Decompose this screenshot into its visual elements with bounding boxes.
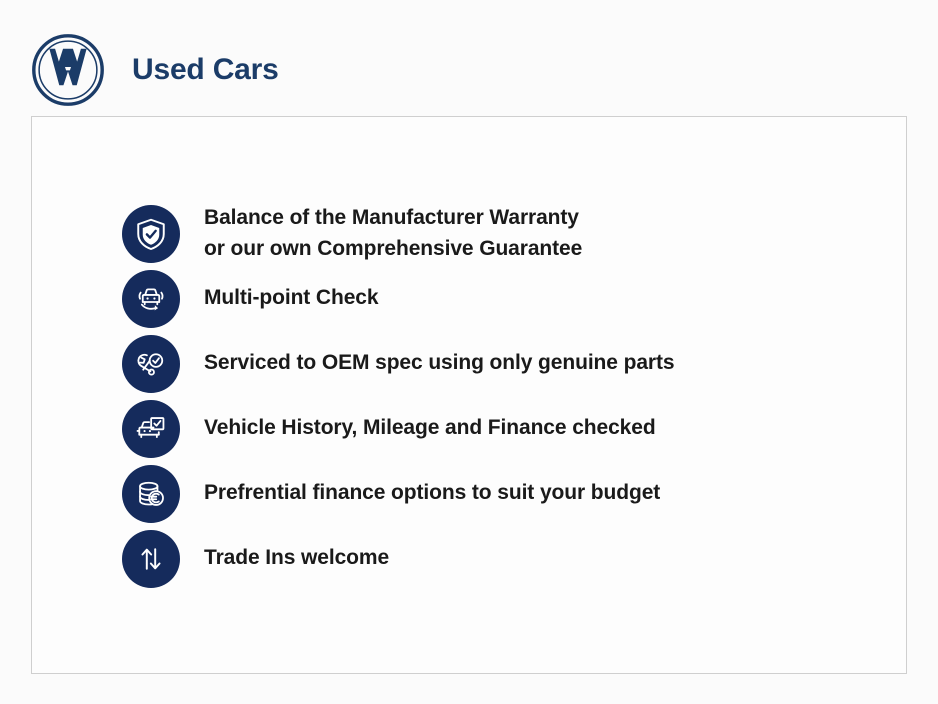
list-item-label: Balance of the Manufacturer Warranty or … bbox=[204, 203, 582, 264]
list-item: Serviced to OEM spec using only genuine … bbox=[122, 331, 882, 396]
coins-euro-icon bbox=[122, 465, 180, 523]
wrench-check-icon bbox=[122, 335, 180, 393]
used-cars-page: Used Cars Balance of the Manufacturer Wa… bbox=[0, 0, 938, 704]
list-item: Balance of the Manufacturer Warranty or … bbox=[122, 201, 882, 266]
list-item: Prefrential finance options to suit your… bbox=[122, 461, 882, 526]
list-item-label: Vehicle History, Mileage and Finance che… bbox=[204, 413, 656, 443]
features-panel: Balance of the Manufacturer Warranty or … bbox=[31, 116, 907, 674]
list-item: Vehicle History, Mileage and Finance che… bbox=[122, 396, 882, 461]
list-item-label: Multi-point Check bbox=[204, 283, 378, 313]
shield-check-icon bbox=[122, 205, 180, 263]
features-list: Balance of the Manufacturer Warranty or … bbox=[122, 201, 882, 591]
list-item: Trade Ins welcome bbox=[122, 526, 882, 591]
list-item-label: Serviced to OEM spec using only genuine … bbox=[204, 348, 674, 378]
list-item-label: Trade Ins welcome bbox=[204, 543, 389, 573]
car-multipoint-check-icon bbox=[122, 270, 180, 328]
vw-logo-icon bbox=[30, 32, 106, 108]
car-history-checklist-icon bbox=[122, 400, 180, 458]
page-header: Used Cars bbox=[30, 30, 279, 110]
page-title: Used Cars bbox=[132, 55, 279, 85]
arrows-up-down-icon bbox=[122, 530, 180, 588]
list-item-label: Prefrential finance options to suit your… bbox=[204, 478, 660, 508]
list-item: Multi-point Check bbox=[122, 266, 882, 331]
